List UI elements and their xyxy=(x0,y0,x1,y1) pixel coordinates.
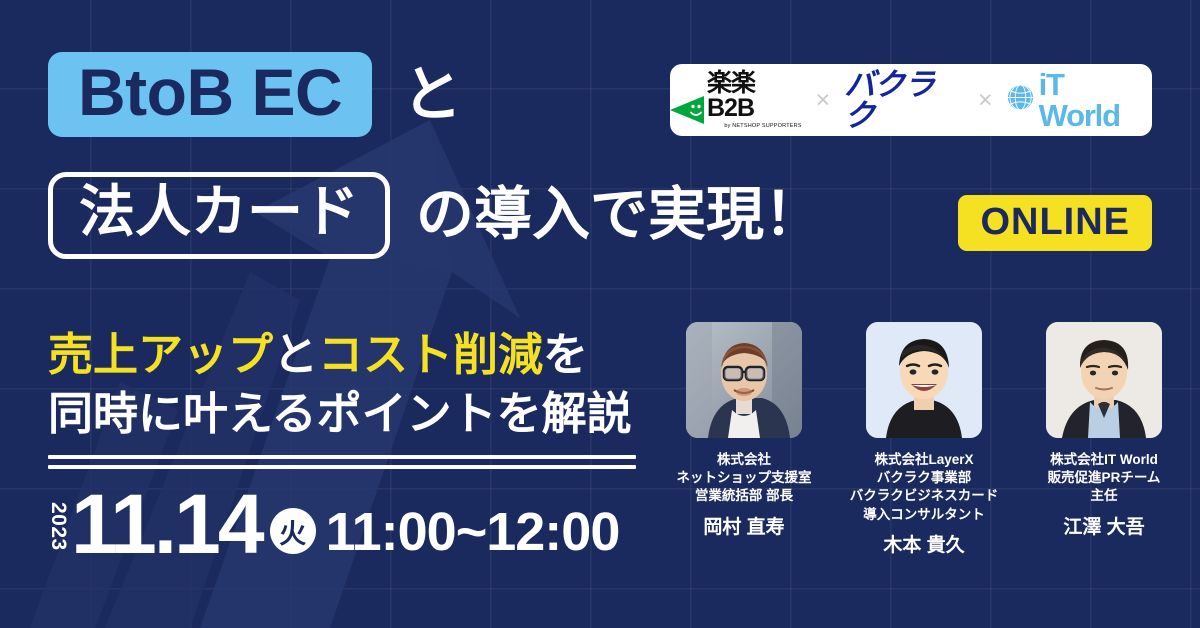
speaker-list: 株式会社ネットショップ支援室営業統括部 部長 岡村 直寿 xyxy=(660,322,1188,555)
speaker-affiliation: 株式会社IT World販売促進PRチーム主任 xyxy=(1048,451,1161,506)
webinar-banner: BtoB EC と 法人カード の導入で実現！ ONLINE 楽楽B2B by … xyxy=(0,0,1200,628)
subtitle-line-2: 同時に叶えるポイントを解説 xyxy=(48,385,632,444)
event-time: 11:00~12:00 xyxy=(326,507,620,558)
speaker-name: 岡村 直寿 xyxy=(703,518,784,537)
partner-logo-bar: 楽楽B2B by NETSHOP SUPPORTERS × バクラク × xyxy=(670,64,1152,136)
logo-separator-icon: × xyxy=(816,88,831,113)
logo-bakuraku: バクラク xyxy=(844,69,964,131)
event-datetime: 2023 11.14 火 11:00~12:00 xyxy=(48,488,619,560)
chip-btob-ec: BtoB EC xyxy=(48,52,372,137)
event-month-day: 11.14 xyxy=(71,488,262,560)
subtitle-conj-1: と xyxy=(273,329,318,380)
green-arrow-face-icon xyxy=(670,96,704,129)
divider xyxy=(48,455,636,469)
day-of-week-badge: 火 xyxy=(270,508,316,554)
subtitle-line-1: 売上アップとコスト削減を xyxy=(48,326,632,385)
speaker-affiliation: 株式会社LayerXバクラク事業部バクラクビジネスカード導入コンサルタント xyxy=(850,451,999,524)
subtitle-highlight-sales: 売上アップ xyxy=(48,329,273,380)
speaker-name: 木本 貴久 xyxy=(883,536,964,555)
rakuraku-logo-subtext: by NETSHOP SUPPORTERS xyxy=(724,123,801,129)
title-row-secondary: 法人カード の導入で実現！ xyxy=(48,172,822,259)
title-row-primary: BtoB EC と xyxy=(48,52,462,137)
speaker-card: 株式会社IT World販売促進PRチーム主任 江澤 大吾 xyxy=(1020,322,1188,555)
subtitle-particle: を xyxy=(543,329,588,380)
speaker-photo-kimoto xyxy=(866,322,982,438)
title-tail: の導入で実現！ xyxy=(416,186,822,244)
speaker-photo-okamura xyxy=(686,322,802,438)
logo-separator-icon-2: × xyxy=(978,88,993,113)
chip-corporate-card: 法人カード xyxy=(48,172,390,259)
status-badge-online: ONLINE xyxy=(958,195,1152,251)
speaker-card: 株式会社ネットショップ支援室営業統括部 部長 岡村 直寿 xyxy=(660,322,828,555)
logo-it-world: iT World xyxy=(1007,69,1152,131)
rakuraku-logo-text: 楽楽B2B xyxy=(707,71,802,121)
speaker-photo-ezawa xyxy=(1046,322,1162,438)
subtitle: 売上アップとコスト削減を 同時に叶えるポイントを解説 xyxy=(48,326,632,443)
title-conjunction: と xyxy=(402,65,462,125)
logo-rakuraku-b2b: 楽楽B2B by NETSHOP SUPPORTERS xyxy=(670,71,802,129)
event-year: 2023 xyxy=(48,502,69,551)
speaker-card: 株式会社LayerXバクラク事業部バクラクビジネスカード導入コンサルタント 木本… xyxy=(840,322,1008,555)
speaker-name: 江澤 大吾 xyxy=(1063,518,1144,537)
it-world-logo-text: iT World xyxy=(1039,69,1152,131)
speaker-affiliation: 株式会社ネットショップ支援室営業統括部 部長 xyxy=(677,451,812,506)
globe-icon xyxy=(1007,84,1034,116)
subtitle-highlight-cost: コスト削減 xyxy=(318,329,543,380)
